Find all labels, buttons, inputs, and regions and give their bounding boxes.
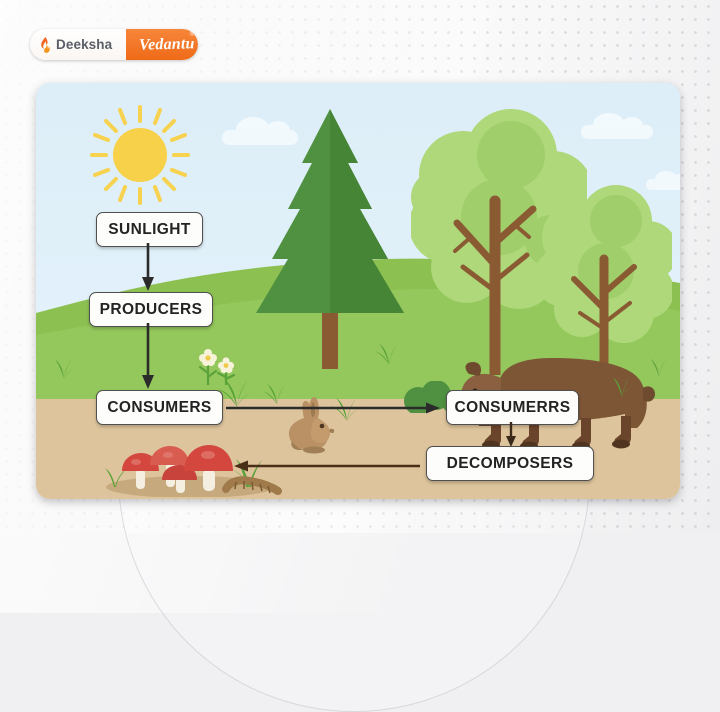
deeksha-logo-section: Deeksha [30, 29, 138, 60]
grass-tuft-icon [606, 373, 638, 402]
arrow-decomposers-to-producers [234, 459, 424, 473]
flow-label-consumers[interactable]: CONSUMERS [96, 390, 223, 425]
grass-tuft-icon [48, 355, 80, 384]
vedantu-wordmark: Vedantu [139, 35, 195, 54]
flame-icon [39, 37, 52, 53]
arrow-consumerrs-to-decomposers [504, 422, 518, 448]
brand-logo[interactable]: Deeksha Vedantu ® [30, 29, 198, 60]
arrow-consumers-to-consumerrs [226, 401, 442, 415]
deciduous-tree-icon [536, 175, 672, 375]
sun-icon [90, 105, 190, 205]
flow-label-decomposers[interactable]: DECOMPOSERS [426, 446, 594, 481]
deeksha-wordmark: Deeksha [56, 37, 112, 52]
flow-label-consumerrs[interactable]: CONSUMERRS [446, 390, 579, 425]
vedantu-logo-section: Vedantu ® [126, 29, 198, 60]
ecosystem-diagram-card: SUNLIGHT PRODUCERS CONSUMERS CONSUMERRS … [36, 83, 680, 499]
arrow-sunlight-to-producers [140, 243, 156, 293]
grass-tuft-icon [372, 339, 406, 370]
registered-trademark-icon: ® [190, 32, 194, 38]
flow-label-sunlight[interactable]: SUNLIGHT [96, 212, 203, 247]
cloud-icon [581, 125, 653, 139]
pine-tree-icon [254, 101, 406, 369]
grass-tuft-icon [644, 355, 674, 382]
arrow-producers-to-consumers [140, 323, 156, 391]
flow-label-producers[interactable]: PRODUCERS [89, 292, 213, 327]
